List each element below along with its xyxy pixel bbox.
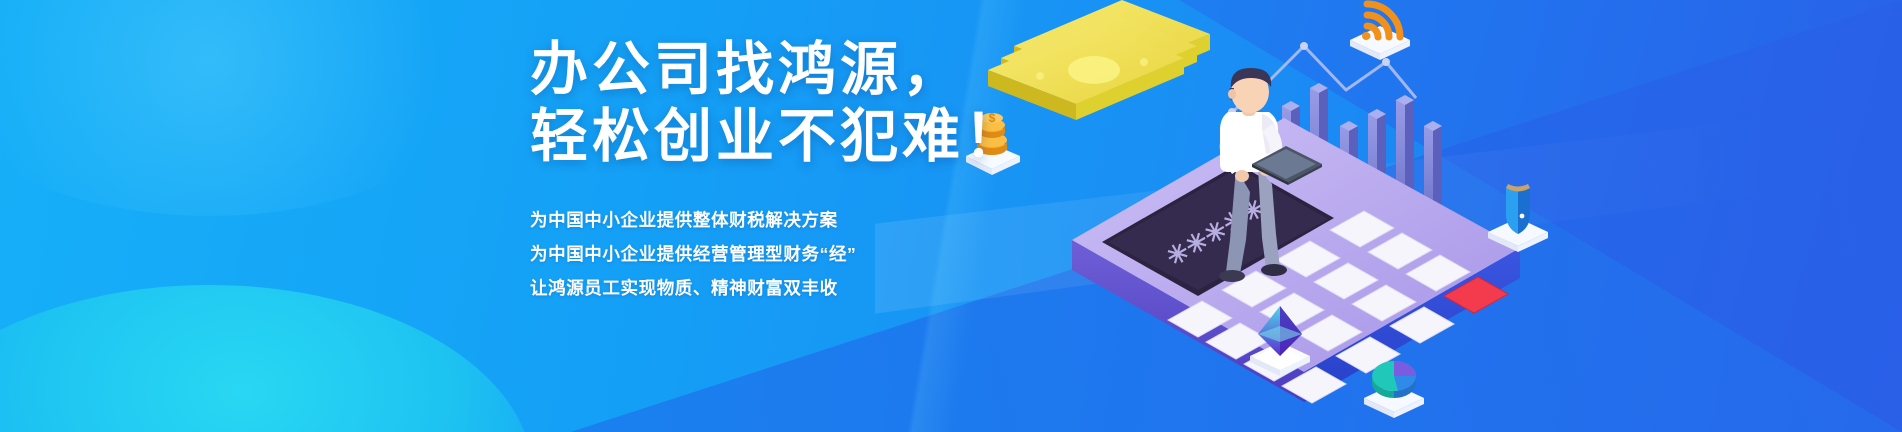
subtitle-line-3: 让鸿源员工实现物质、精神财富双丰收	[530, 271, 1090, 305]
headline-line-2: 轻松创业不犯难！	[530, 103, 1090, 170]
subtitle-line-1: 为中国中小企业提供整体财税解决方案	[530, 203, 1090, 237]
headline-line-1: 办公司找鸿源，	[530, 37, 964, 102]
promotional-banner: 办公司找鸿源， 轻松创业不犯难！ 为中国中小企业提供整体财税解决方案 为中国中小…	[0, 0, 1902, 432]
banner-headline: 办公司找鸿源， 轻松创业不犯难！	[530, 36, 1090, 171]
wifi-signal-icon	[1350, 4, 1410, 60]
subtitle-line-2: 为中国中小企业提供经营管理型财务“经”	[530, 237, 1090, 271]
banner-subtitle-block: 为中国中小企业提供整体财税解决方案 为中国中小企业提供经营管理型财务“经” 让鸿…	[530, 203, 1090, 305]
banner-copy-block: 办公司找鸿源， 轻松创业不犯难！ 为中国中小企业提供整体财税解决方案 为中国中小…	[530, 36, 1090, 305]
security-shield-icon	[1488, 184, 1548, 252]
